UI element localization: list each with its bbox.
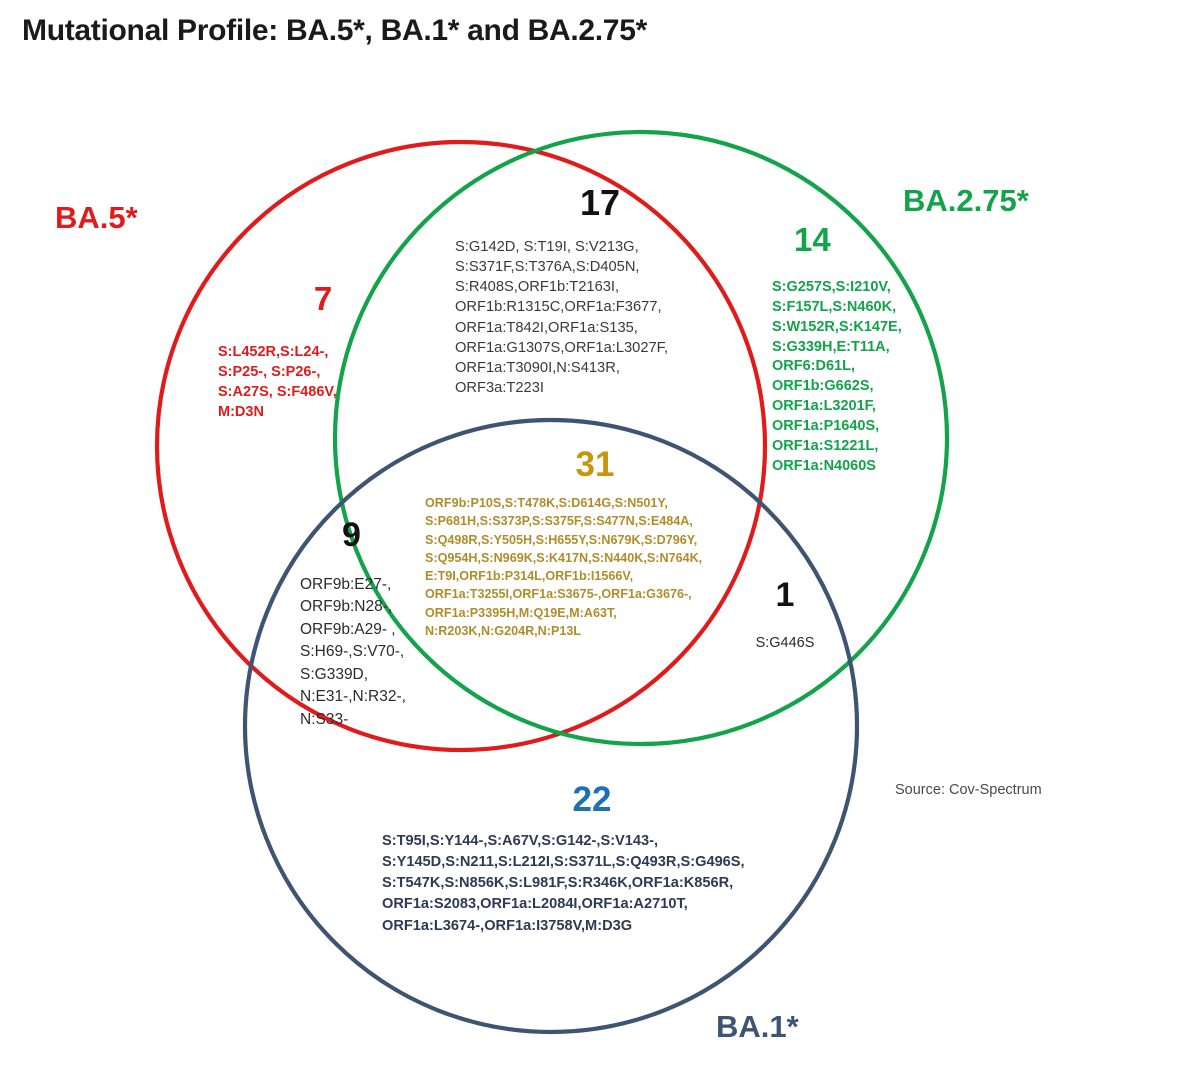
source-note: Source: Cov-Spectrum bbox=[895, 782, 1042, 798]
region-ba5-intersect-ba1: 9 ORF9b:E27-, ORF9b:N28-, ORF9b:A29- , S… bbox=[300, 518, 465, 731]
region-ba1-only-count: 22 bbox=[382, 782, 802, 817]
region-ba5-only-count: 7 bbox=[218, 282, 428, 315]
region-ba1-only: 22 S:T95I,S:Y144-,S:A67V,S:G142-,S:V143-… bbox=[382, 782, 802, 937]
region-ba1-intersect-ba275: 1 S:G446S bbox=[715, 578, 855, 654]
region-center-mutations: ORF9b:P10S,S:T478K,S:D614G,S:N501Y, S:P6… bbox=[425, 494, 765, 640]
region-ba275-only: 14 S:G257S,S:I210V, S:F157L,S:N460K, S:W… bbox=[772, 223, 962, 477]
venn-diagram-canvas: Mutational Profile: BA.5*, BA.1* and BA.… bbox=[0, 0, 1199, 1090]
region-ba5-ba275-count: 17 bbox=[455, 185, 745, 221]
set-label-ba275: BA.2.75* bbox=[903, 183, 1029, 219]
region-all-three-intersect: 31 ORF9b:P10S,S:T478K,S:D614G,S:N501Y, S… bbox=[425, 447, 765, 640]
region-ba1-ba275-count: 1 bbox=[715, 578, 855, 612]
region-ba5-intersect-ba275: 17 S:G142D, S:T19I, S:V213G, S:S371F,S:T… bbox=[455, 185, 745, 398]
region-ba1-ba275-mutations: S:G446S bbox=[715, 634, 855, 654]
region-ba1-only-mutations: S:T95I,S:Y144-,S:A67V,S:G142-,S:V143-, S… bbox=[382, 831, 802, 937]
region-ba5-only: 7 S:L452R,S:L24-, S:P25-, S:P26-, S:A27S… bbox=[218, 282, 428, 422]
set-label-ba1: BA.1* bbox=[716, 1009, 799, 1045]
set-label-ba5: BA.5* bbox=[55, 200, 138, 236]
region-center-count: 31 bbox=[425, 447, 765, 482]
region-ba5-only-mutations: S:L452R,S:L24-, S:P25-, S:P26-, S:A27S, … bbox=[218, 343, 428, 422]
region-ba5-ba275-mutations: S:G142D, S:T19I, S:V213G, S:S371F,S:T376… bbox=[455, 237, 745, 398]
region-ba275-only-mutations: S:G257S,S:I210V, S:F157L,S:N460K, S:W152… bbox=[772, 278, 962, 477]
region-ba5-ba1-count: 9 bbox=[300, 518, 465, 552]
region-ba5-ba1-mutations: ORF9b:E27-, ORF9b:N28-, ORF9b:A29- , S:H… bbox=[300, 574, 465, 731]
region-ba275-only-count: 14 bbox=[772, 223, 962, 256]
